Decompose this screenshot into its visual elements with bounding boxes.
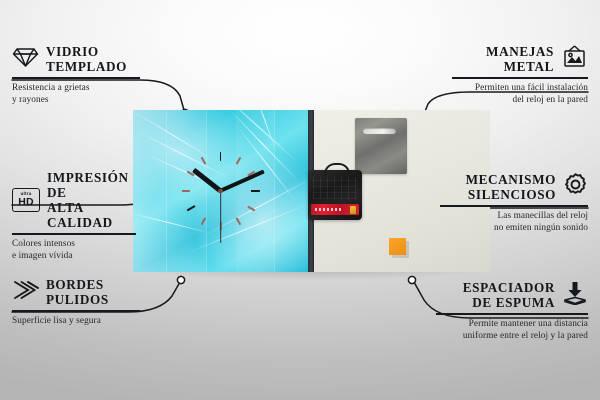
- feature-mecanismo-silencioso: MECANISMO SILENCIOSO Las manecillas del …: [440, 172, 588, 234]
- feature-description: Permite mantener una distancia uniforme …: [436, 318, 588, 342]
- title-rule: [12, 77, 140, 79]
- feature-description: Colores intensos e imagen vívida: [12, 238, 136, 262]
- diamond-icon: [12, 46, 39, 73]
- feature-description: Superficie lisa y segura: [12, 315, 140, 327]
- ultra-hd-icon: ultra HD: [12, 188, 40, 212]
- feature-vidrio-templado: VIDRIO TEMPLADO Resistencia a grietas y …: [12, 44, 140, 106]
- feature-title: VIDRIO TEMPLADO: [46, 44, 127, 74]
- feature-title: MECANISMO SILENCIOSO: [466, 172, 556, 202]
- metal-hanger-plate: [355, 118, 407, 174]
- infographic-canvas: VIDRIO TEMPLADO Resistencia a grietas y …: [0, 0, 600, 400]
- feature-description: Las manecillas del reloj no emiten ningú…: [440, 210, 588, 234]
- title-rule: [12, 233, 136, 235]
- clock-center-pin: [218, 189, 222, 193]
- feature-title: MANEJAS METAL: [486, 44, 554, 74]
- title-rule: [436, 313, 588, 315]
- title-rule: [12, 310, 140, 312]
- movement-texture: [313, 177, 357, 199]
- product-image: [133, 110, 490, 272]
- clock-front-face: [133, 110, 308, 272]
- hanger-keyhole-slot: [363, 128, 396, 134]
- title-rule: [440, 205, 588, 207]
- feature-title: ESPACIADOR DE ESPUMA: [463, 280, 555, 310]
- movement-hanging-loop: [324, 163, 350, 176]
- clock-second-hand: [220, 191, 221, 243]
- feature-description: Permiten una fácil instalación del reloj…: [452, 82, 588, 106]
- gear-icon: [563, 172, 588, 202]
- battery-label-text: [315, 208, 343, 211]
- feature-description: Resistencia a grietas y rayones: [12, 82, 140, 106]
- feature-title: BORDES PULIDOS: [46, 277, 109, 307]
- ultra-hd-icon-large-text: HD: [18, 197, 34, 208]
- title-rule: [452, 77, 588, 79]
- feature-bordes-pulidos: BORDES PULIDOS Superficie lisa y segura: [12, 277, 140, 327]
- feature-impresion-alta-calidad: ultra HD IMPRESIÓN DE ALTA CALIDAD Color…: [12, 170, 136, 262]
- picture-frame-icon: [561, 45, 588, 73]
- polished-edges-icon: [12, 279, 39, 306]
- feature-espaciador-espuma: ESPACIADOR DE ESPUMA Permite mantener un…: [436, 280, 588, 342]
- battery-contact: [350, 206, 356, 214]
- foam-spacer-icon: [562, 281, 588, 310]
- feature-title: IMPRESIÓN DE ALTA CALIDAD: [47, 170, 136, 230]
- foam-spacer-pad: [389, 238, 406, 255]
- clock-movement-box: [308, 170, 362, 220]
- battery-label: [311, 204, 359, 215]
- feature-manejas-metal: MANEJAS METAL Permiten una fácil instala…: [452, 44, 588, 106]
